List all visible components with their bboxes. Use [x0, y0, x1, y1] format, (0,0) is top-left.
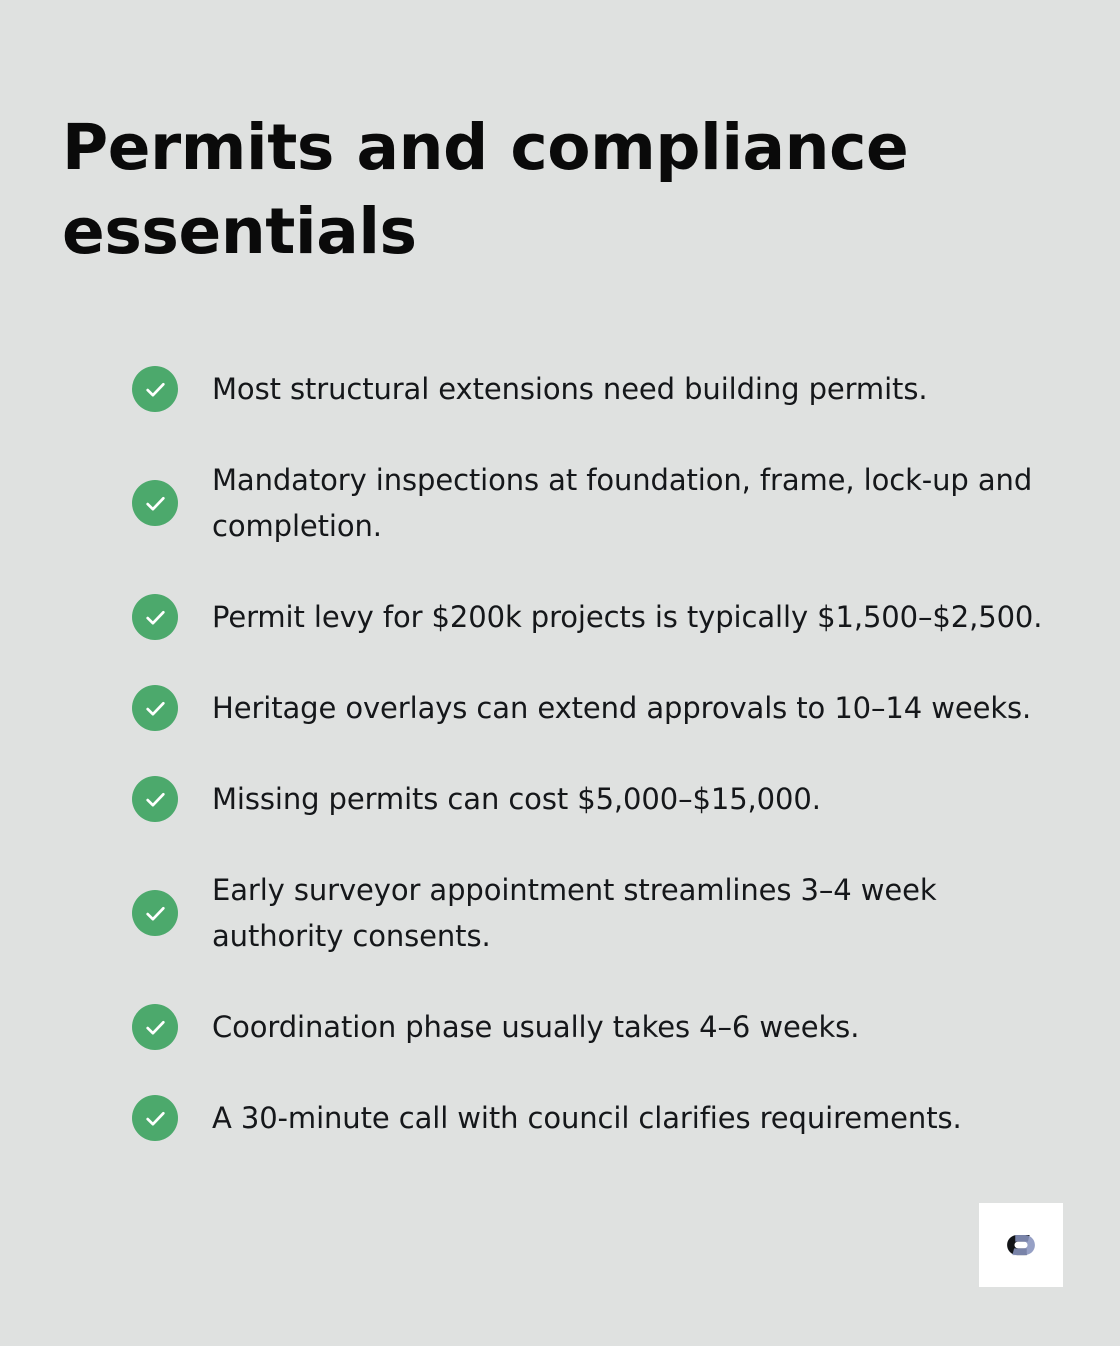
list-item: Mandatory inspections at foundation, fra… [132, 457, 1062, 549]
list-item-label: Permit levy for $200k projects is typica… [212, 594, 1042, 640]
check-icon [132, 480, 178, 526]
brand-logo-icon [998, 1222, 1044, 1268]
check-icon [132, 1095, 178, 1141]
list-item-label: Missing permits can cost $5,000–$15,000. [212, 776, 821, 822]
list-item-label: Most structural extensions need building… [212, 366, 927, 412]
check-icon [132, 890, 178, 936]
list-item: Heritage overlays can extend approvals t… [132, 685, 1062, 731]
check-icon [132, 1004, 178, 1050]
infographic-card: Permits and compliance essentials Most s… [0, 0, 1120, 1346]
list-item-label: Heritage overlays can extend approvals t… [212, 685, 1031, 731]
list-item-label: Coordination phase usually takes 4–6 wee… [212, 1004, 859, 1050]
check-icon [132, 776, 178, 822]
list-item: Permit levy for $200k projects is typica… [132, 594, 1062, 640]
list-item: A 30-minute call with council clarifies … [132, 1095, 1062, 1141]
checklist: Most structural extensions need building… [132, 366, 1062, 1141]
list-item: Early surveyor appointment streamlines 3… [132, 867, 1062, 959]
list-item-label: A 30-minute call with council clarifies … [212, 1095, 962, 1141]
page-title: Permits and compliance essentials [62, 106, 922, 274]
check-icon [132, 685, 178, 731]
list-item: Most structural extensions need building… [132, 366, 1062, 412]
list-item-label: Early surveyor appointment streamlines 3… [212, 867, 1062, 959]
check-icon [132, 366, 178, 412]
list-item-label: Mandatory inspections at foundation, fra… [212, 457, 1062, 549]
check-icon [132, 594, 178, 640]
list-item: Coordination phase usually takes 4–6 wee… [132, 1004, 1062, 1050]
list-item: Missing permits can cost $5,000–$15,000. [132, 776, 1062, 822]
brand-logo-badge [979, 1203, 1063, 1287]
